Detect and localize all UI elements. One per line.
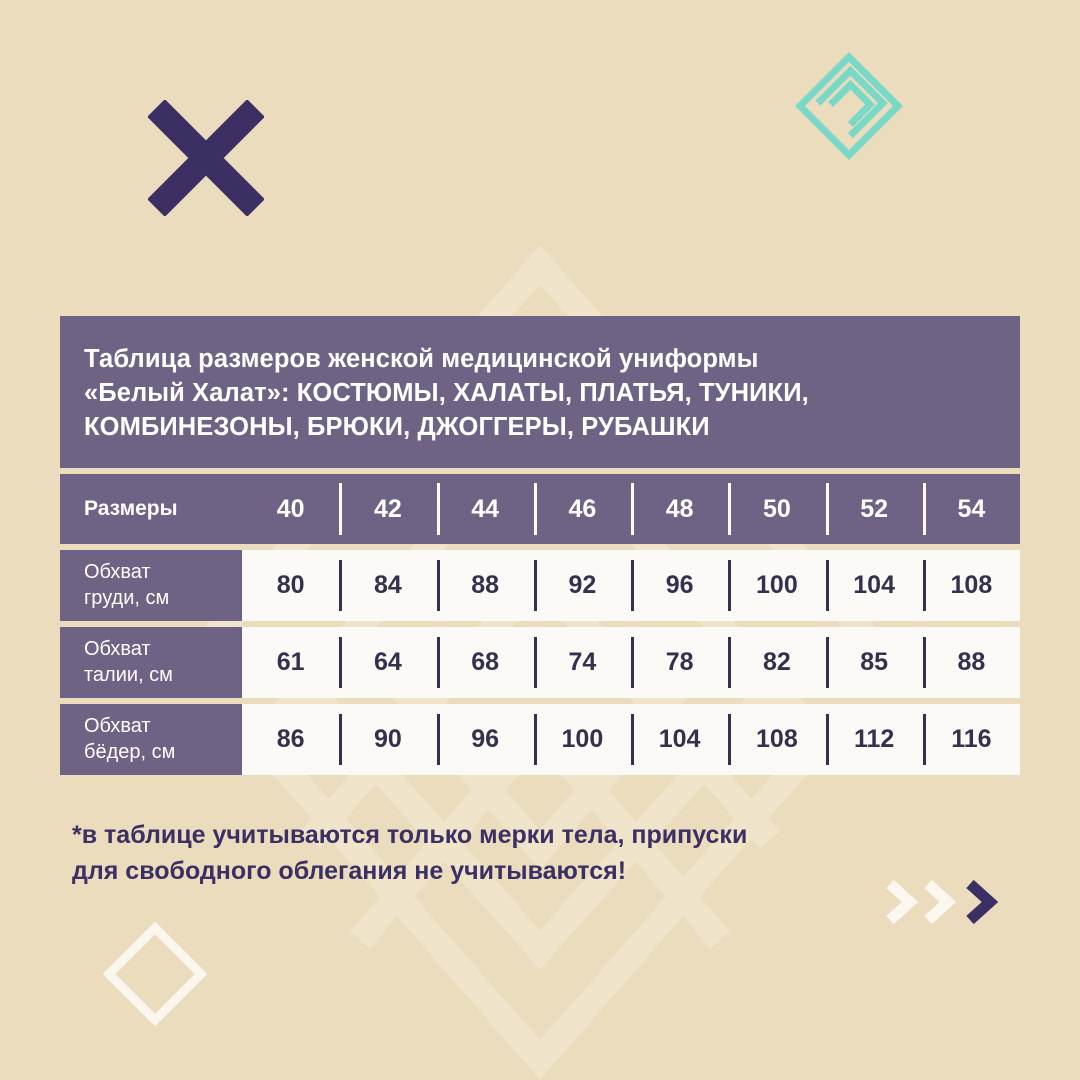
column-header-sizes: Размеры: [60, 474, 242, 544]
footnote-line-2: для свободного облегания не учитываются!: [72, 854, 952, 890]
table-row: Обхват груди, см 80 84 88 92 96 100 104 …: [60, 550, 1020, 621]
x-mark-icon: [148, 100, 264, 216]
size-table: Таблица размеров женской медицинской уни…: [60, 316, 1020, 775]
row-cells-waist: 61 64 68 74 78 82 85 88: [242, 627, 1020, 698]
row-label-line: Обхват: [84, 560, 242, 586]
size-header-cell: 44: [437, 474, 534, 544]
size-header-cell: 40: [242, 474, 339, 544]
row-label-line: талии, см: [84, 663, 242, 689]
table-cell: 78: [631, 627, 728, 698]
row-label-chest: Обхват груди, см: [60, 550, 242, 621]
row-cells-chest: 80 84 88 92 96 100 104 108: [242, 550, 1020, 621]
table-title-line-3: КОМБИНЕЗОНЫ, БРЮКИ, ДЖОГГЕРЫ, РУБАШКИ: [84, 410, 996, 444]
table-title-line-1: Таблица размеров женской медицинской уни…: [84, 342, 996, 376]
footnote: *в таблице учитываются только мерки тела…: [72, 818, 952, 889]
table-row: Обхват бёдер, см 86 90 96 100 104 108 11…: [60, 704, 1020, 775]
table-cell: 108: [923, 550, 1020, 621]
size-header-cell: 50: [728, 474, 825, 544]
table-cell: 68: [437, 627, 534, 698]
row-cells-hips: 86 90 96 100 104 108 112 116: [242, 704, 1020, 775]
footnote-line-1: *в таблице учитываются только мерки тела…: [72, 818, 952, 854]
table-cell: 84: [339, 550, 436, 621]
size-header-cell: 46: [534, 474, 631, 544]
table-cell: 108: [728, 704, 825, 775]
table-cell: 64: [339, 627, 436, 698]
row-label-line: Обхват: [84, 637, 242, 663]
row-label-line: Обхват: [84, 714, 242, 740]
table-cell: 74: [534, 627, 631, 698]
table-cell: 116: [923, 704, 1020, 775]
table-cell: 80: [242, 550, 339, 621]
size-header-cell: 48: [631, 474, 728, 544]
table-cell: 85: [826, 627, 923, 698]
white-diamond-outline-icon: [103, 922, 207, 1026]
size-header-cell: 54: [923, 474, 1020, 544]
table-cell: 104: [826, 550, 923, 621]
table-cell: 104: [631, 704, 728, 775]
table-row: Обхват талии, см 61 64 68 74 78 82 85 88: [60, 627, 1020, 698]
size-header-cell: 42: [339, 474, 436, 544]
table-cell: 90: [339, 704, 436, 775]
table-cell: 92: [534, 550, 631, 621]
table-cell: 112: [826, 704, 923, 775]
teal-diamond-logo-icon: [795, 52, 903, 160]
table-cell: 82: [728, 627, 825, 698]
table-cell: 100: [534, 704, 631, 775]
row-label-line: груди, см: [84, 586, 242, 612]
table-cell: 88: [923, 627, 1020, 698]
table-title-line-2: «Белый Халат»: КОСТЮМЫ, ХАЛАТЫ, ПЛАТЬЯ, …: [84, 376, 996, 410]
table-cell: 88: [437, 550, 534, 621]
poster-canvas: Таблица размеров женской медицинской уни…: [0, 0, 1080, 1080]
table-cell: 86: [242, 704, 339, 775]
table-cell: 96: [437, 704, 534, 775]
table-cell: 96: [631, 550, 728, 621]
row-label-waist: Обхват талии, см: [60, 627, 242, 698]
row-label-hips: Обхват бёдер, см: [60, 704, 242, 775]
table-header-row: Размеры 40 42 44 46 48 50 52 54: [60, 474, 1020, 544]
row-label-line: бёдер, см: [84, 740, 242, 766]
table-cell: 100: [728, 550, 825, 621]
size-header-cell: 52: [826, 474, 923, 544]
table-cell: 61: [242, 627, 339, 698]
table-title-band: Таблица размеров женской медицинской уни…: [60, 316, 1020, 468]
